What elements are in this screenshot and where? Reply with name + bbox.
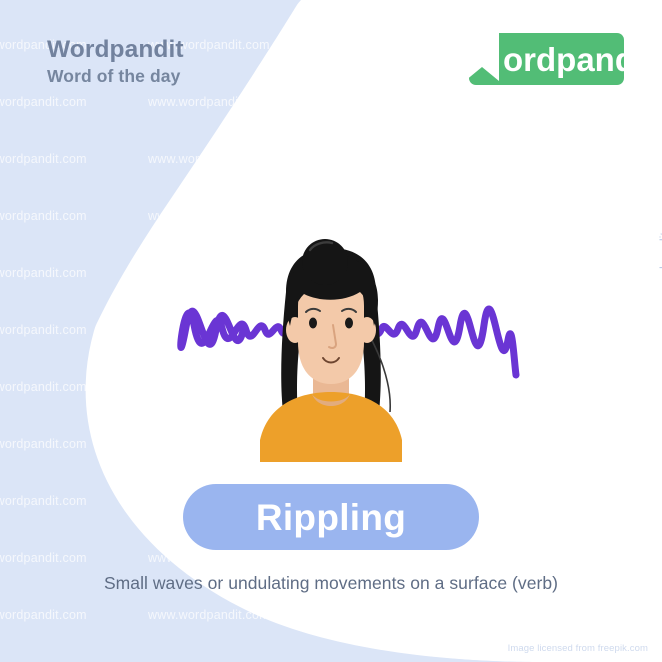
word-banner: Rippling [183,484,479,550]
illustration [0,0,662,662]
brand-title: Wordpandit [47,36,184,63]
eye-left [309,318,317,329]
hair-bun [302,239,348,285]
eye-right [345,318,353,329]
logo-text: ordpandit [503,41,624,78]
word-term: Rippling [256,499,406,536]
wordpandit-logo[interactable]: ordpandit [459,31,624,87]
word-of-the-day-card: www.wordpandit.comwww.wordpandit.comwww.… [0,0,662,662]
sound-wave-right [366,309,516,375]
header: Wordpandit Word of the day [47,36,184,87]
header-subtitle: Word of the day [47,66,184,87]
word-definition: Small waves or undulating movements on a… [0,573,662,594]
sound-wave-left [181,311,296,347]
image-attribution: Image licensed from freepik.com [508,643,648,654]
